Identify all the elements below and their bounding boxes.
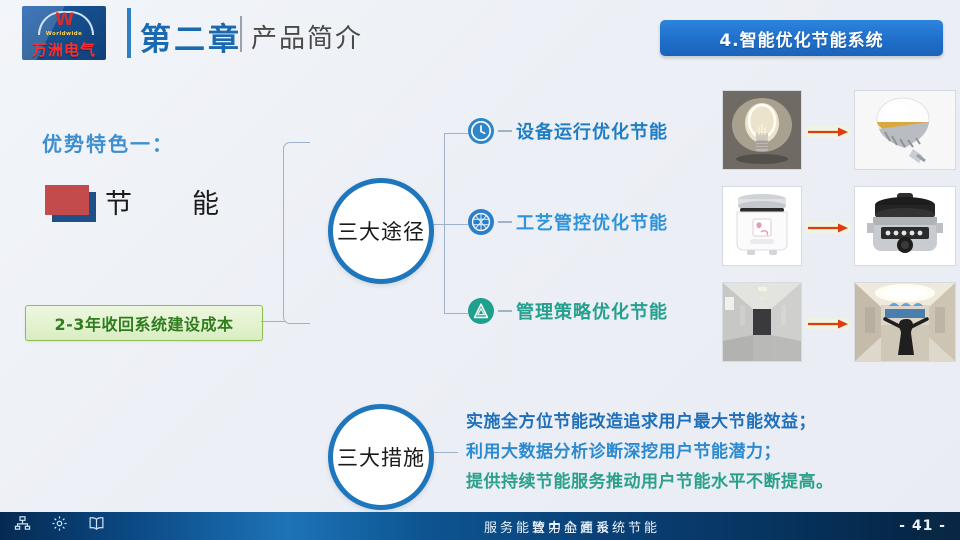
right-bracket-spine [444,133,445,313]
path-dash-2 [498,221,512,222]
logo-brand-cn: 万洲电气 [22,39,106,60]
network-icon [468,209,494,235]
measures-circle: 三大措施 [328,404,434,510]
lit-corridor-photo [854,282,956,362]
path-label-3: 管理策略优化节能 [516,298,668,324]
chapter-subtitle: 产品简介 [251,18,363,55]
header-divider-bar [127,8,131,58]
chapter-title: 第二章 [140,14,242,59]
header-separator [240,16,242,52]
right-bracket-branch-1 [444,133,468,134]
logo-brand-en: Worldwide [22,31,106,37]
advantage-title: 优势特色一： [42,128,174,157]
clock-icon [468,118,494,144]
company-logo: W Worldwide 万洲电气 [22,6,106,60]
arrow-right-icon [806,219,850,231]
measure-line-1: 实施全方位节能改造追求用户最大节能效益； [466,407,816,432]
cost-callout-box: 2-3年收回系统建设成本 [25,305,263,341]
footer-slogan-right: 服务能管中心建设 [484,512,784,540]
measure-line-2: 利用大数据分析诊断深挖用户节能潜力； [466,437,781,462]
path-dash-3 [498,310,512,311]
photo-row-lighting [722,90,954,168]
incandescent-bulb-photo [722,90,802,170]
slide-header: W Worldwide 万洲电气 第二章 产品简介 4.智能优化节能系统 [0,0,960,80]
path-item-equipment: 设备运行优化节能 [468,118,668,144]
path-item-process: 工艺管控优化节能 [468,209,668,235]
old-rice-cooker-photo [722,186,802,266]
left-bracket [283,142,310,324]
path-label-2: 工艺管控优化节能 [516,209,668,235]
path-item-management: 管理策略优化节能 [468,298,668,324]
paths-circle: 三大途径 [328,178,434,284]
slide-canvas: W Worldwide 万洲电气 第二章 产品简介 4.智能优化节能系统 优势特… [0,0,960,540]
paths-circle-label: 三大途径 [337,216,425,246]
cost-callout-label: 2-3年收回系统建设成本 [26,306,262,340]
arrow-right-icon [806,315,850,327]
measures-circle-label: 三大措施 [337,442,425,472]
led-bulb-photo [854,90,956,170]
triangle-icon [468,298,494,324]
keyword-label: 节 能 [105,182,221,221]
photo-row-corridor [722,282,954,360]
pressure-cooker-photo [854,186,956,266]
right-bracket-branch-3 [444,313,468,314]
section-banner-label: 4.智能优化节能系统 [660,20,943,56]
photo-row-cooker [722,186,954,264]
dim-corridor-photo [722,282,802,362]
measure-line-3: 提供持续节能服务推动用户节能水平不断提高。 [466,467,834,492]
section-banner: 4.智能优化节能系统 [660,20,943,56]
keyword-square-icon [45,185,89,215]
logo-w-mark: W [22,12,106,29]
page-number: - 41 - [899,512,946,540]
path-dash-1 [498,130,512,131]
path-label-1: 设备运行优化节能 [516,118,668,144]
arrow-right-icon [806,123,850,135]
left-bracket-stub [261,321,285,322]
